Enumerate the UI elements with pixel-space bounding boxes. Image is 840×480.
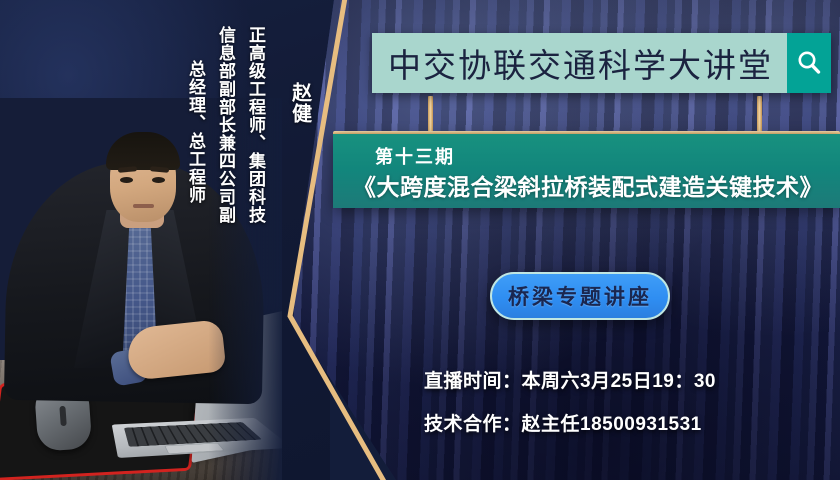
photo-edge-fade <box>0 98 282 480</box>
speaker-title-line-2: 信息部副部长兼四公司副 <box>216 26 234 224</box>
cooperation-contact: 技术合作：赵主任18500931531 <box>424 409 702 436</box>
bridge-strut-right <box>757 96 762 134</box>
bridge-strut-left <box>428 96 433 134</box>
lecture-subject: 《大跨度混合梁斜拉桥装配式建造关键技术》 <box>341 168 835 202</box>
issue-number: 第十三期 <box>375 143 455 169</box>
topic-badge[interactable]: 桥梁专题讲座 <box>490 272 670 320</box>
live-stream-poster: 总经理、总工程师 信息部副部长兼四公司副 正高级工程师、集团科技 赵健 中交协联… <box>0 0 840 480</box>
program-title: 中交协联交通科学大讲堂 <box>372 33 787 93</box>
subject-band: 第十三期 《大跨度混合梁斜拉桥装配式建造关键技术》 <box>333 134 840 208</box>
topic-badge-label: 桥梁专题讲座 <box>508 281 652 311</box>
speaker-name: 赵健 <box>288 82 310 124</box>
speaker-photo <box>0 98 282 480</box>
program-title-bar: 中交协联交通科学大讲堂 <box>372 33 831 93</box>
speaker-panel: 总经理、总工程师 信息部副部长兼四公司副 正高级工程师、集团科技 <box>0 0 330 480</box>
search-icon[interactable] <box>787 33 831 93</box>
speaker-title-line-3: 总经理、总工程师 <box>186 60 204 204</box>
broadcast-time: 直播时间：本周六3月25日19：30 <box>424 366 716 393</box>
magnifier-glyph <box>795 49 823 77</box>
speaker-title-line-1: 正高级工程师、集团科技 <box>246 26 264 224</box>
